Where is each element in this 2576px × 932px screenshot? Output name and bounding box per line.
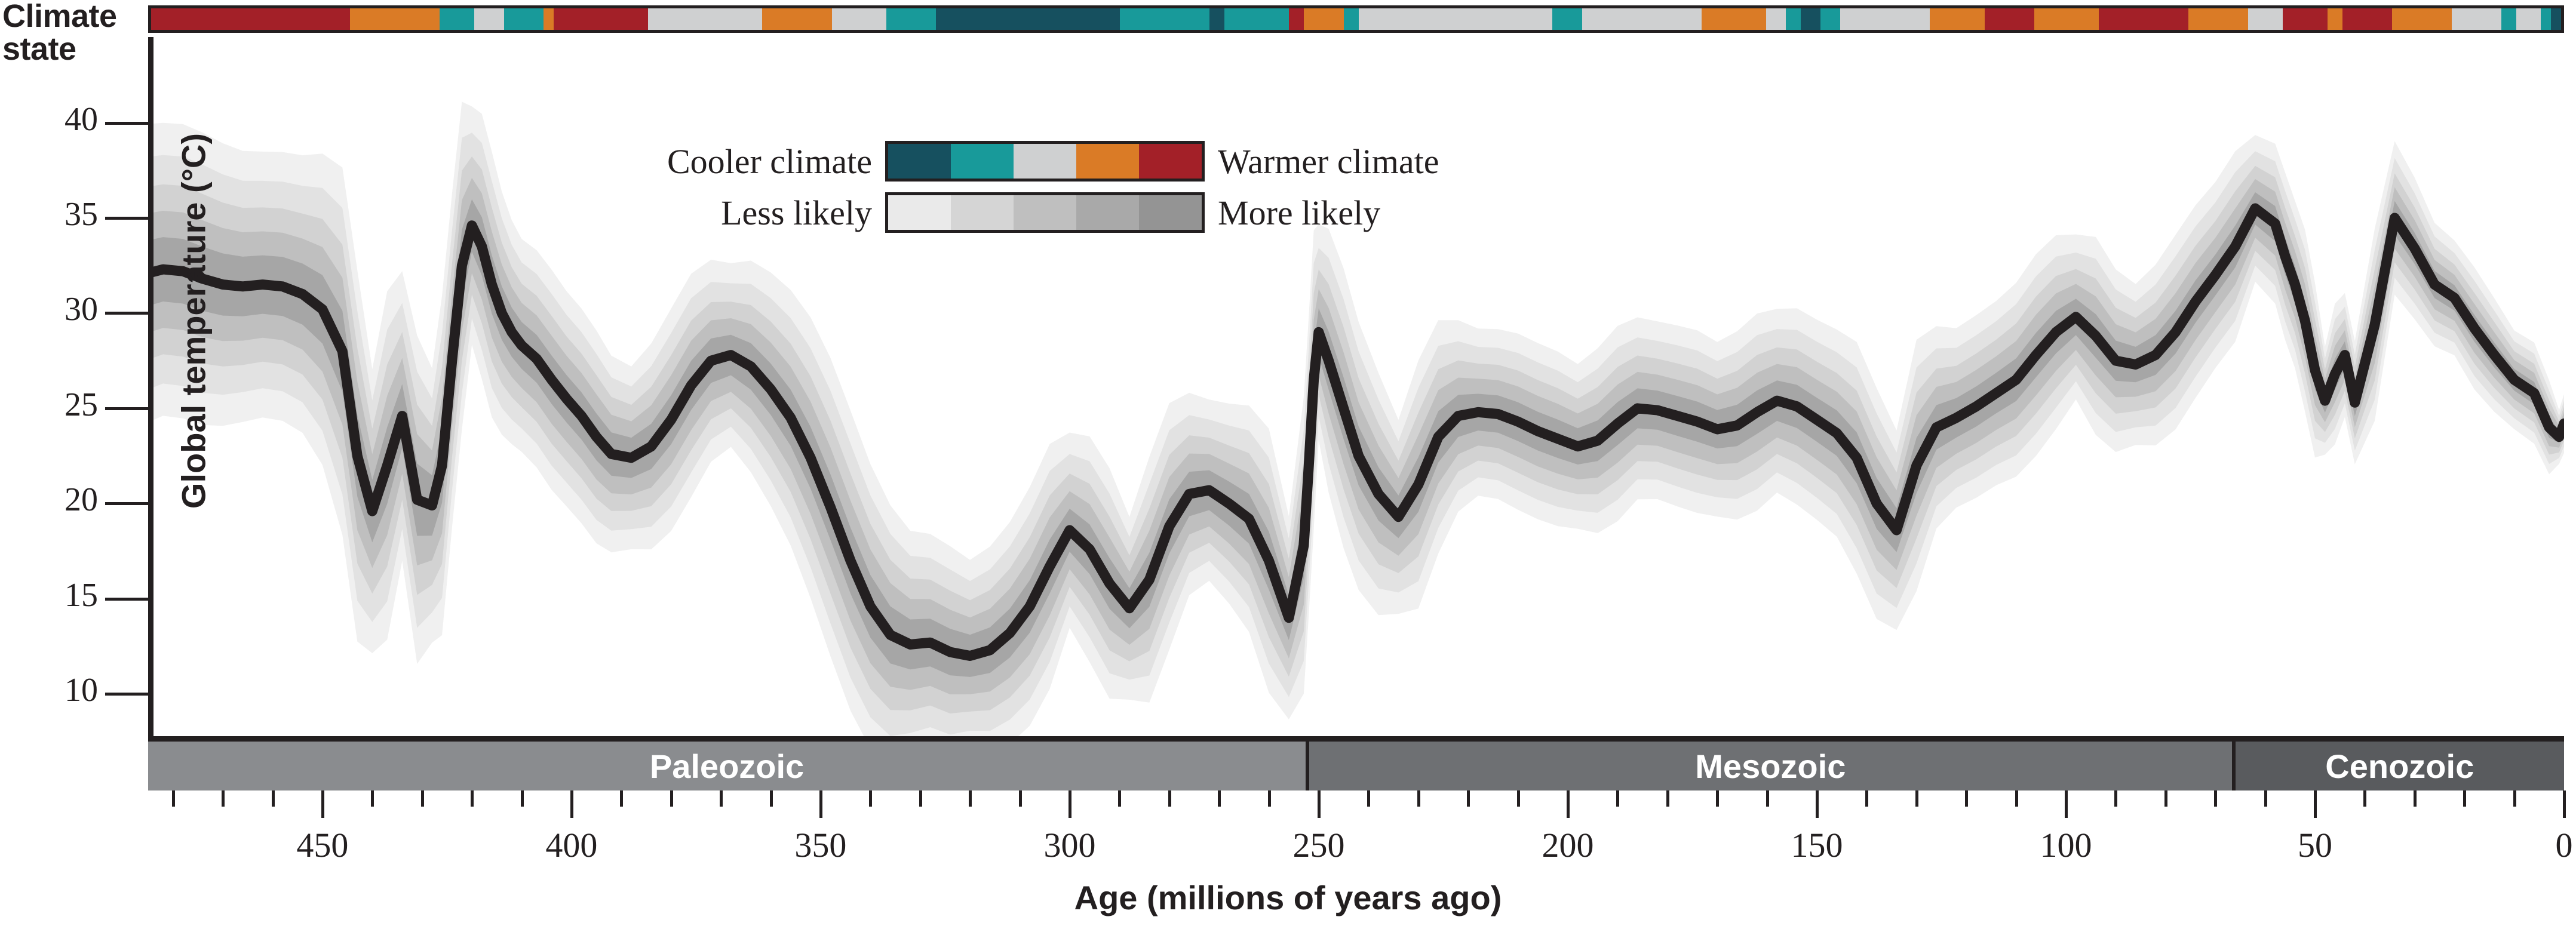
x-tick-major — [2065, 790, 2068, 818]
climate-state-bar-frame — [148, 5, 2564, 33]
y-tick-mark — [105, 312, 148, 315]
climate-state-segment — [1209, 8, 1224, 30]
climate-state-segment — [2188, 8, 2248, 30]
x-tick-label: 450 — [263, 825, 382, 865]
climate-state-segment — [1120, 8, 1209, 30]
x-tick-label: 50 — [2255, 825, 2375, 865]
x-tick-major — [2314, 790, 2317, 818]
x-tick-minor — [1467, 790, 1470, 807]
x-tick-minor — [1616, 790, 1619, 807]
legend-swatch — [888, 195, 951, 230]
climate-state-segment — [151, 8, 350, 30]
climate-state-segment — [1930, 8, 1985, 30]
climate-state-segment — [1289, 8, 1304, 30]
climate-state-label: Climate state — [2, 0, 143, 66]
y-tick-label: 15 — [26, 576, 98, 614]
legend-swatch — [1139, 144, 1202, 179]
legend-swatch — [1014, 144, 1076, 179]
x-tick-minor — [1218, 790, 1221, 807]
climate-state-label-line2: state — [2, 33, 143, 66]
climate-state-segment — [936, 8, 1120, 30]
x-tick-major — [1318, 790, 1321, 818]
x-tick-major — [321, 790, 324, 818]
climate-state-segment — [648, 8, 762, 30]
x-tick-minor — [2513, 790, 2516, 807]
x-tick-major — [819, 790, 822, 818]
legend-swatch — [1076, 195, 1139, 230]
climate-state-segment — [544, 8, 554, 30]
climate-state-segment — [2342, 8, 2392, 30]
y-tick-mark — [105, 407, 148, 410]
era-segment-paleozoic: Paleozoic — [148, 742, 1309, 790]
era-segment-mesozoic: Mesozoic — [1309, 742, 2235, 790]
x-tick-minor — [869, 790, 872, 807]
climate-state-segment — [1304, 8, 1344, 30]
x-tick-minor — [1766, 790, 1769, 807]
x-tick-minor — [770, 790, 773, 807]
climate-state-segment — [474, 8, 504, 30]
x-tick-minor — [2015, 790, 2018, 807]
climate-state-segment — [762, 8, 831, 30]
climate-state-segment — [554, 8, 648, 30]
climate-state-segment — [350, 8, 440, 30]
x-tick-major — [1567, 790, 1570, 818]
climate-state-segment — [1344, 8, 1359, 30]
x-tick-minor — [720, 790, 723, 807]
x-axis-baseline — [148, 736, 2564, 742]
x-tick-minor — [421, 790, 424, 807]
climate-state-segment — [1985, 8, 2034, 30]
climate-state-segment — [2392, 8, 2452, 30]
x-tick-minor — [2164, 790, 2167, 807]
climate-state-segment — [2248, 8, 2283, 30]
climate-state-segment — [1766, 8, 1786, 30]
y-tick-mark — [105, 693, 148, 696]
climate-state-segment — [1786, 8, 1801, 30]
x-tick-minor — [2363, 790, 2366, 807]
y-tick-mark — [105, 217, 148, 220]
x-tick-minor — [2463, 790, 2466, 807]
climate-state-segment — [2099, 8, 2188, 30]
x-tick-minor — [620, 790, 623, 807]
x-axis-title: Age (millions of years ago) — [0, 878, 2576, 917]
x-tick-label: 400 — [512, 825, 631, 865]
y-tick-mark — [105, 598, 148, 601]
x-tick-minor — [1417, 790, 1420, 807]
climate-state-segment — [2034, 8, 2099, 30]
x-tick-minor — [1716, 790, 1719, 807]
climate-state-segment — [504, 8, 544, 30]
x-tick-label: 350 — [761, 825, 880, 865]
x-tick-minor — [521, 790, 524, 807]
x-tick-minor — [1517, 790, 1520, 807]
x-tick-minor — [2264, 790, 2267, 807]
y-tick-label: 10 — [26, 671, 98, 709]
legend-left-label: Less likely — [627, 193, 885, 233]
x-tick-label: 200 — [1508, 825, 1628, 865]
climate-state-segment — [440, 8, 474, 30]
climate-state-segment — [1820, 8, 1840, 30]
x-tick-minor — [1168, 790, 1171, 807]
climate-state-segment — [2516, 8, 2541, 30]
legend-swatch — [888, 144, 951, 179]
climate-state-segment — [886, 8, 936, 30]
climate-state-segment — [1359, 8, 1552, 30]
x-tick-minor — [670, 790, 673, 807]
x-tick-minor — [1367, 790, 1370, 807]
legend-color-scale — [885, 192, 1205, 233]
climate-state-segment — [2501, 8, 2516, 30]
x-tick-minor — [1019, 790, 1022, 807]
x-tick-label: 100 — [2006, 825, 2126, 865]
legend-row-climate-state-scale: Cooler climateWarmer climate — [627, 139, 1439, 184]
legend-left-label: Cooler climate — [627, 142, 885, 182]
y-tick-label: 35 — [26, 195, 98, 233]
legend-right-label: More likely — [1205, 193, 1380, 233]
x-tick-major — [1069, 790, 1071, 818]
x-tick-label: 250 — [1259, 825, 1378, 865]
x-tick-minor — [2214, 790, 2217, 807]
x-tick-minor — [919, 790, 922, 807]
legend-swatch — [1076, 144, 1139, 179]
climate-state-segment — [2541, 8, 2551, 30]
climate-state-segment — [2551, 8, 2561, 30]
climate-state-label-line1: Climate — [2, 0, 143, 33]
x-tick-minor — [2114, 790, 2117, 807]
climate-state-segment — [1582, 8, 1702, 30]
x-tick-major — [1816, 790, 1819, 818]
x-tick-minor — [172, 790, 175, 807]
legend-swatch — [1014, 195, 1076, 230]
x-tick-minor — [1865, 790, 1868, 807]
climate-state-segment — [2328, 8, 2342, 30]
climate-state-segment — [2452, 8, 2501, 30]
climate-state-segment — [1801, 8, 1820, 30]
x-tick-minor — [1118, 790, 1121, 807]
climate-state-segment — [1840, 8, 1930, 30]
legend-right-label: Warmer climate — [1205, 142, 1439, 182]
x-tick-minor — [1915, 790, 1918, 807]
y-tick-label: 40 — [26, 100, 98, 139]
x-tick-minor — [272, 790, 275, 807]
x-tick-minor — [471, 790, 474, 807]
x-tick-minor — [1965, 790, 1968, 807]
geologic-era-bar: PaleozoicMesozoicCenozoic — [148, 742, 2564, 790]
chart-root: Climate state Global temperature (°C) 40… — [0, 0, 2576, 932]
legend-row-likelihood-scale: Less likelyMore likely — [627, 190, 1439, 235]
x-tick-label: 300 — [1010, 825, 1129, 865]
y-tick-mark — [105, 502, 148, 505]
y-axis-title: Global temperature (°C) — [174, 124, 213, 518]
legend-swatch — [951, 195, 1014, 230]
y-tick-label: 25 — [26, 386, 98, 424]
y-tick-label: 20 — [26, 481, 98, 519]
x-tick-minor — [371, 790, 374, 807]
legend-swatch — [951, 144, 1014, 179]
x-tick-major — [2563, 790, 2566, 818]
era-segment-cenozoic: Cenozoic — [2236, 742, 2564, 790]
x-tick-minor — [222, 790, 225, 807]
y-tick-label: 30 — [26, 290, 98, 328]
y-tick-mark — [105, 122, 148, 125]
x-tick-minor — [2414, 790, 2417, 807]
x-tick-major — [570, 790, 573, 818]
x-tick-minor — [969, 790, 972, 807]
climate-state-segment — [1702, 8, 1766, 30]
x-tick-minor — [1268, 790, 1271, 807]
climate-state-segment — [1224, 8, 1289, 30]
climate-state-bar — [151, 8, 2561, 30]
x-tick-minor — [1666, 790, 1669, 807]
chart-legend: Cooler climateWarmer climateLess likelyM… — [627, 139, 1439, 235]
x-tick-label: 0 — [2504, 825, 2576, 865]
x-tick-label: 150 — [1757, 825, 1877, 865]
climate-state-segment — [832, 8, 887, 30]
legend-color-scale — [885, 141, 1205, 182]
climate-state-segment — [1552, 8, 1582, 30]
legend-swatch — [1139, 195, 1202, 230]
climate-state-segment — [2283, 8, 2328, 30]
